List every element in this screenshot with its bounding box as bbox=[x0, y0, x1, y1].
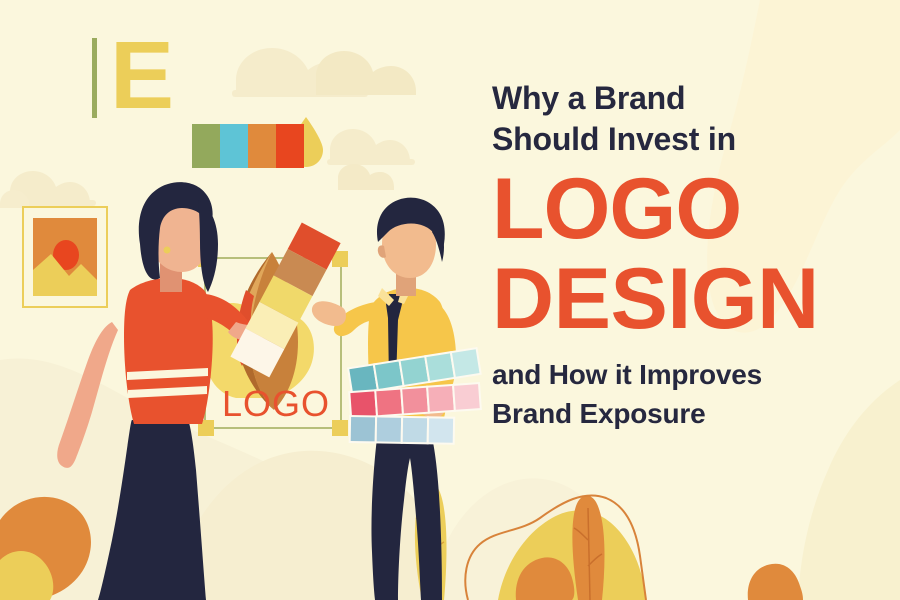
headline-kicker-line2: Should Invest in bbox=[492, 119, 892, 160]
headline-big-line2: DESIGN bbox=[492, 258, 892, 341]
headline-big-line1: LOGO bbox=[492, 168, 892, 251]
headline-tail-line2: Brand Exposure bbox=[492, 396, 892, 433]
headline-kicker-line1: Why a Brand bbox=[492, 78, 892, 119]
headline-tail-line1: and How it Improves bbox=[492, 357, 892, 394]
headline-block: Why a Brand Should Invest in LOGO DESIGN… bbox=[492, 78, 892, 433]
logo-word-text: LOGO bbox=[222, 383, 330, 425]
fan-row-blue bbox=[350, 416, 454, 444]
poster-canvas: E bbox=[0, 0, 900, 600]
